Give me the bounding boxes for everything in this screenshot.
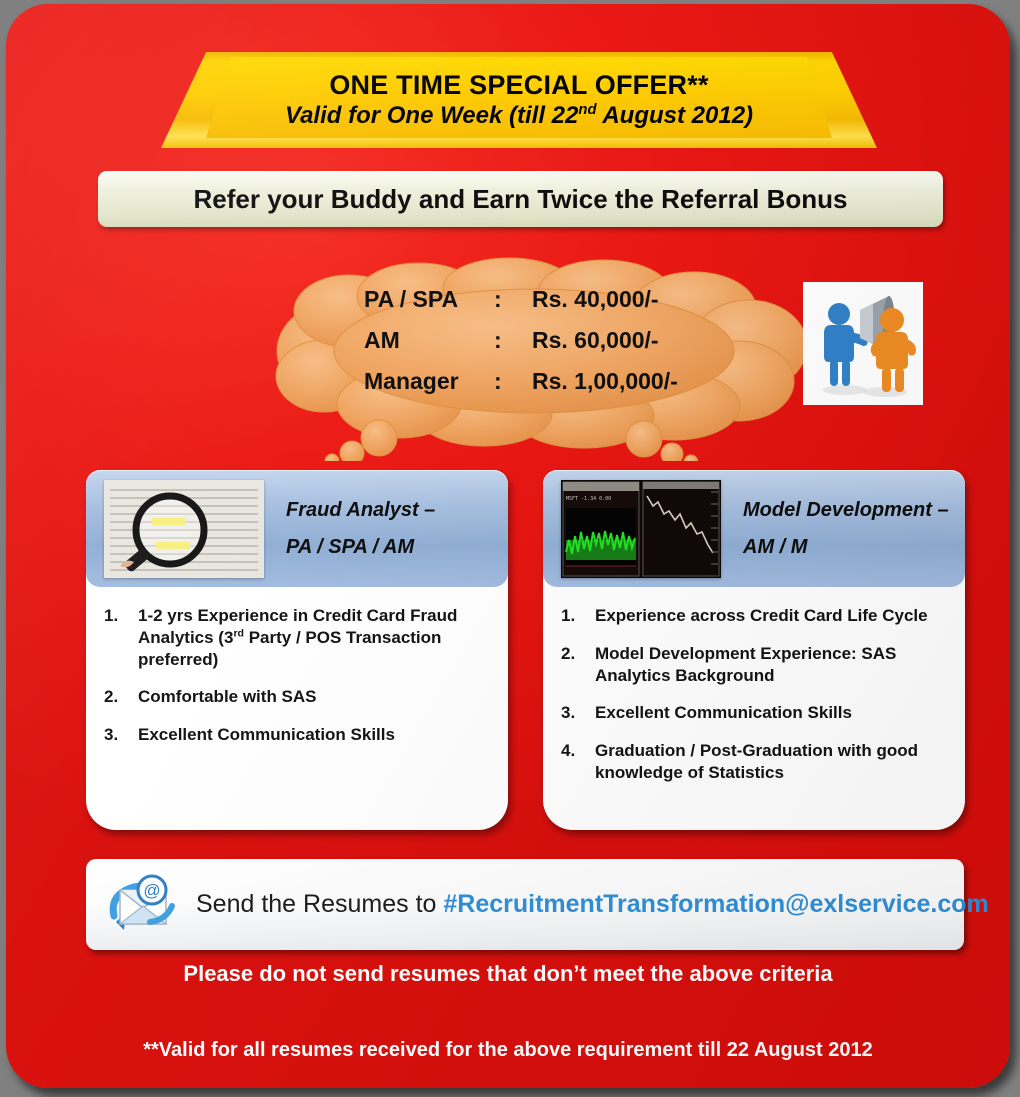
banner-subheadline: Valid for One Week (till 22nd August 201… (285, 102, 753, 130)
megaphone-figures-icon (803, 282, 923, 405)
job-card-header: Fraud Analyst – PA / SPA / AM (86, 470, 508, 587)
list-item-number: 3. (561, 702, 595, 724)
list-item-superscript: rd (233, 627, 244, 639)
email-instruction-text: Send the Resumes to #RecruitmentTransfor… (196, 890, 989, 919)
recruitment-email-address[interactable]: #RecruitmentTransformation@exlservice.co… (443, 890, 988, 918)
job-card-header: MSFT -1.34 0.00 Mo (543, 470, 965, 587)
list-item-number: 1. (561, 605, 595, 627)
job-requirements-list: 1. Experience across Credit Card Life Cy… (543, 587, 965, 784)
list-item-number: 2. (104, 686, 138, 708)
megaphone-image (803, 282, 923, 405)
bonus-role: AM (364, 327, 494, 354)
email-prefix: Send the Resumes to (196, 890, 443, 918)
validity-footnote-text: **Valid for all resumes received for the… (6, 1039, 1010, 1062)
job-title-line1: Fraud Analyst – (286, 492, 435, 529)
list-item-text: Model Development Experience: SAS Analyt… (595, 643, 949, 687)
banner-validity-before: Valid for One Week (till 22 (285, 102, 578, 129)
bonus-colon: : (494, 368, 532, 395)
bonus-role: Manager (364, 368, 494, 395)
list-item-text: Graduation / Post-Graduation with good k… (595, 740, 949, 784)
bonus-colon: : (494, 286, 532, 313)
bonus-amount-list: PA / SPA : Rs. 40,000/- AM : Rs. 60,000/… (364, 286, 784, 395)
list-item: 3. Excellent Communication Skills (561, 702, 949, 724)
list-item-text: Excellent Communication Skills (138, 724, 492, 746)
svg-text:@: @ (143, 881, 160, 900)
list-item-number: 4. (561, 740, 595, 784)
bonus-amount: Rs. 1,00,000/- (532, 368, 784, 395)
job-requirements-list: 1. 1-2 yrs Experience in Credit Card Fra… (86, 587, 508, 746)
list-item-text: Excellent Communication Skills (595, 702, 949, 724)
job-card-title: Model Development – AM / M (743, 492, 949, 566)
list-item-text: 1-2 yrs Experience in Credit Card Fraud … (138, 605, 492, 670)
list-item-number: 3. (104, 724, 138, 746)
bonus-thought-cloud: PA / SPA : Rs. 40,000/- AM : Rs. 60,000/… (244, 256, 814, 461)
job-title-line1: Model Development – (743, 492, 949, 529)
bonus-row: PA / SPA : Rs. 40,000/- (364, 286, 784, 313)
referral-headline-text: Refer your Buddy and Earn Twice the Refe… (194, 184, 848, 215)
job-card-model-development: MSFT -1.34 0.00 Mo (543, 470, 965, 830)
poster-panel: ONE TIME SPECIAL OFFER** Valid for One W… (6, 4, 1010, 1088)
list-item: 1. Experience across Credit Card Life Cy… (561, 605, 949, 627)
job-card-fraud-analyst: Fraud Analyst – PA / SPA / AM 1. 1-2 yrs… (86, 470, 508, 830)
list-item: 3. Excellent Communication Skills (104, 724, 492, 746)
banner-headline: ONE TIME SPECIAL OFFER** (329, 70, 708, 101)
list-item-text: Comfortable with SAS (138, 686, 492, 708)
magnifying-glass-icon (104, 480, 264, 578)
list-item: 4. Graduation / Post-Graduation with goo… (561, 740, 949, 784)
job-title-line2: PA / SPA / AM (286, 529, 435, 566)
job-card-title: Fraud Analyst – PA / SPA / AM (286, 492, 435, 566)
submission-email-bar: @ Send the Resumes to #RecruitmentTransf… (86, 859, 964, 950)
list-item: 1. 1-2 yrs Experience in Credit Card Fra… (104, 605, 492, 670)
bonus-amount: Rs. 60,000/- (532, 327, 784, 354)
banner-validity-after: August 2012) (597, 102, 753, 129)
list-item: 2. Model Development Experience: SAS Ana… (561, 643, 949, 687)
job-title-line2: AM / M (743, 529, 949, 566)
trading-chart-icon: MSFT -1.34 0.00 (561, 480, 721, 578)
banner-text-group: ONE TIME SPECIAL OFFER** Valid for One W… (161, 52, 877, 148)
bonus-colon: : (494, 327, 532, 354)
list-item-number: 2. (561, 643, 595, 687)
banner-ordinal-suffix: nd (578, 102, 596, 118)
bonus-role: PA / SPA (364, 286, 494, 313)
bonus-row: Manager : Rs. 1,00,000/- (364, 368, 784, 395)
svg-text:MSFT -1.34 0.00: MSFT -1.34 0.00 (566, 496, 611, 502)
criteria-warning-text: Please do not send resumes that don’t me… (6, 961, 1010, 987)
offer-banner: ONE TIME SPECIAL OFFER** Valid for One W… (161, 52, 877, 148)
list-item-number: 1. (104, 605, 138, 670)
list-item-text: Experience across Credit Card Life Cycle (595, 605, 949, 627)
bonus-amount: Rs. 40,000/- (532, 286, 784, 313)
referral-headline-bar: Refer your Buddy and Earn Twice the Refe… (98, 171, 943, 227)
email-at-envelope-icon: @ (108, 872, 184, 938)
bonus-row: AM : Rs. 60,000/- (364, 327, 784, 354)
list-item: 2. Comfortable with SAS (104, 686, 492, 708)
